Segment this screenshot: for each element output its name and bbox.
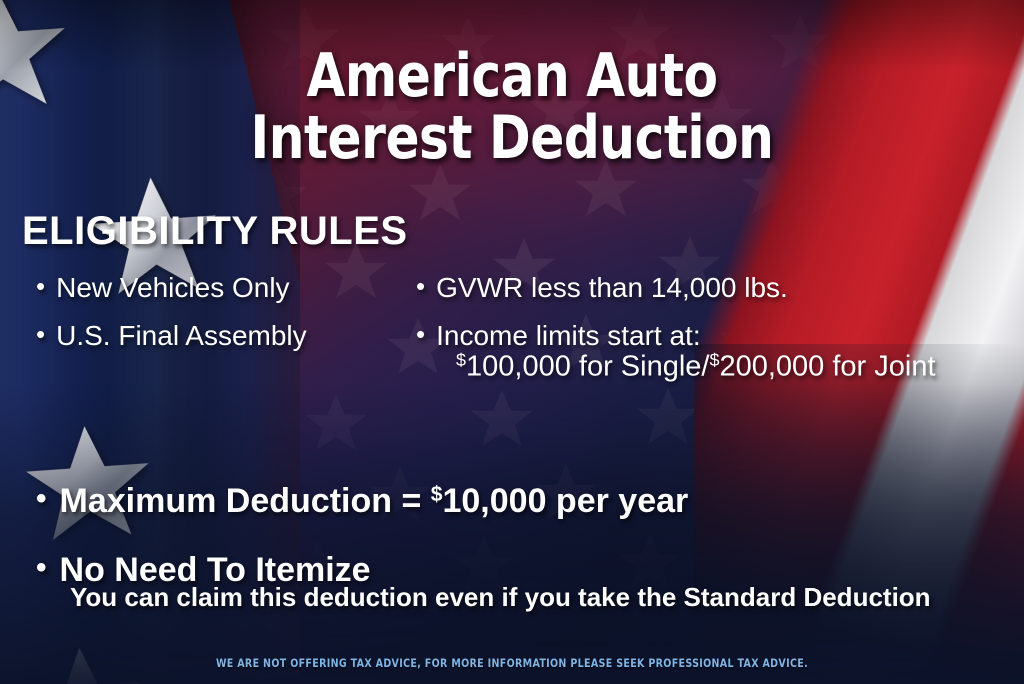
- bullet-dot-icon: •: [36, 484, 47, 514]
- max-deduction-suffix: per year: [546, 482, 688, 520]
- eligibility-right-item-1: Income limits start at:: [436, 320, 1016, 352]
- highlight-bullets: • Maximum Deduction = $10,000 per year •…: [36, 482, 1016, 613]
- itemize-subline-row: You can claim this deduction even if you…: [36, 582, 1016, 613]
- page-title: American Auto Interest Deduction: [36, 46, 988, 170]
- max-deduction-prefix: Maximum Deduction =: [60, 482, 431, 520]
- income-single-amount: 100,000: [466, 350, 571, 382]
- income-amounts-row: $100,000 for Single/$200,000 for Joint: [416, 350, 1016, 383]
- list-item: • GVWR less than 14,000 lbs.: [416, 272, 1016, 304]
- bullet-dot-icon: •: [36, 553, 47, 583]
- bullet-dot-icon: •: [416, 273, 425, 299]
- list-item: • Income limits start at:: [416, 320, 1016, 352]
- bullet-dot-icon: •: [416, 321, 425, 347]
- eligibility-bullets-left: • New Vehicles Only • U.S. Final Assembl…: [36, 272, 396, 368]
- eligibility-left-item-1: U.S. Final Assembly: [56, 320, 396, 352]
- income-amounts: $100,000 for Single/$200,000 for Joint: [456, 350, 1016, 383]
- bullet-dot-icon: •: [36, 321, 45, 347]
- max-deduction-amount: 10,000: [442, 482, 546, 520]
- dollar-sign-max: $: [431, 483, 443, 506]
- dollar-sign-single: $: [456, 350, 466, 370]
- eligibility-bullets-right: • GVWR less than 14,000 lbs. • Income li…: [416, 272, 1016, 383]
- list-item: • U.S. Final Assembly: [36, 320, 396, 352]
- itemize-subline: You can claim this deduction even if you…: [70, 582, 1016, 613]
- disclaimer-text: WE ARE NOT OFFERING TAX ADVICE, FOR MORE…: [41, 656, 983, 670]
- eligibility-left-item-0: New Vehicles Only: [56, 272, 396, 304]
- income-single-label: for Single/: [571, 350, 710, 382]
- list-item: • New Vehicles Only: [36, 272, 396, 304]
- title-line-1: American Auto: [36, 46, 988, 108]
- eligibility-right-item-0: GVWR less than 14,000 lbs.: [436, 272, 1016, 304]
- max-deduction-text: Maximum Deduction = $10,000 per year: [60, 482, 1016, 521]
- slide-canvas: American Auto Interest Deduction ELIGIBI…: [0, 0, 1024, 684]
- dollar-sign-joint: $: [709, 350, 719, 370]
- title-line-2: Interest Deduction: [36, 108, 988, 170]
- bullet-dot-icon: •: [36, 273, 45, 299]
- income-joint-label: for Joint: [824, 350, 935, 382]
- eligibility-heading: ELIGIBILITY RULES: [22, 209, 408, 254]
- income-joint-amount: 200,000: [719, 350, 824, 382]
- list-item: • Maximum Deduction = $10,000 per year: [36, 482, 1016, 521]
